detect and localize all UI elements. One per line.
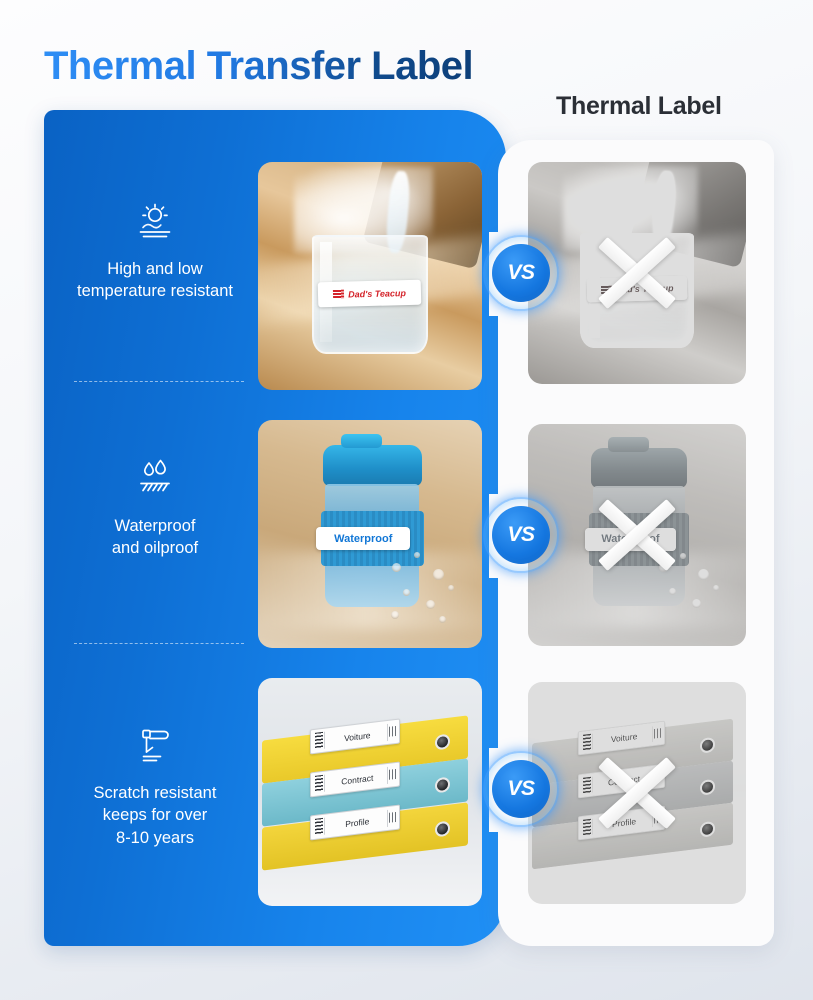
photo-good-temperature: Dad's Teacup xyxy=(258,162,482,390)
cross-out-icon xyxy=(589,487,685,583)
label-stripes-icon xyxy=(386,766,398,784)
feature-label-waterproof: Waterproof and oilproof xyxy=(60,515,250,560)
binder-ring-hole xyxy=(700,779,715,796)
cross-out-icon xyxy=(589,225,685,321)
binder-ring-hole xyxy=(700,821,715,838)
water-droplets-icon xyxy=(60,455,250,501)
feature-text-line2: temperature resistant xyxy=(77,282,233,300)
product-label-text: Dad's Teacup xyxy=(348,287,406,299)
feature-text-line1: High and low xyxy=(107,260,202,278)
vs-badge-1: VS xyxy=(492,244,550,302)
label-barcode-icon xyxy=(314,775,325,792)
scene-blue-tumbler: Waterproof xyxy=(258,420,482,648)
page-title: Thermal Transfer Label xyxy=(44,44,473,89)
scene-hot-water-glass: Dad's Teacup xyxy=(258,162,482,390)
binder-ring-hole xyxy=(435,778,450,795)
feature-item-temperature: High and low temperature resistant xyxy=(60,198,250,303)
cross-out-icon xyxy=(589,745,685,841)
tumbler-lid xyxy=(323,445,422,486)
feature-text-line3: 8-10 years xyxy=(116,829,194,847)
binder-ring-hole xyxy=(435,734,450,751)
feature-text-line1: Waterproof xyxy=(114,517,195,535)
brand-mark-icon xyxy=(333,289,344,298)
binder-label-text: Voiture xyxy=(328,727,387,744)
photo-bad-temperature: Dad's Teacup xyxy=(528,162,746,384)
product-label-waterproof: Waterproof xyxy=(316,527,410,550)
water-droplets xyxy=(383,543,473,634)
scene-stacked-binders: Voiture Contract Profile xyxy=(258,678,482,906)
photo-bad-waterproof: Waterproof xyxy=(528,424,746,646)
photo-good-waterproof: Waterproof xyxy=(258,420,482,648)
label-stripes-icon xyxy=(386,809,398,827)
product-label-teacup: Dad's Teacup xyxy=(318,279,422,307)
feature-text-line1: Scratch resistant xyxy=(94,784,217,802)
feature-divider xyxy=(74,643,244,644)
label-stripes-icon xyxy=(386,723,398,741)
tumbler-lid xyxy=(591,448,687,488)
label-stripes-icon xyxy=(652,726,664,743)
binder-label-text: Profile xyxy=(328,814,387,831)
scratch-scraper-icon xyxy=(60,722,250,768)
feature-item-scratch: Scratch resistant keeps for over 8-10 ye… xyxy=(60,722,250,849)
photo-bad-scratch: Voiture Contract Profile xyxy=(528,682,746,904)
vs-badge-2: VS xyxy=(492,506,550,564)
sun-temperature-icon xyxy=(60,198,250,244)
feature-text-line2: keeps for over xyxy=(103,806,208,824)
product-label-text: Waterproof xyxy=(334,533,392,545)
vs-badge-3: VS xyxy=(492,760,550,818)
feature-label-scratch: Scratch resistant keeps for over 8-10 ye… xyxy=(60,782,250,849)
comparison-column-title: Thermal Label xyxy=(556,92,722,121)
binder-ring-hole xyxy=(700,737,715,754)
label-barcode-icon xyxy=(314,732,325,749)
photo-good-scratch: Voiture Contract Profile xyxy=(258,678,482,906)
feature-item-waterproof: Waterproof and oilproof xyxy=(60,455,250,560)
feature-label-temperature: High and low temperature resistant xyxy=(60,258,250,303)
binder-label-text: Contract xyxy=(328,771,387,788)
binder-ring-hole xyxy=(435,821,450,838)
label-barcode-icon xyxy=(314,818,325,835)
feature-divider xyxy=(74,381,244,382)
feature-text-line2: and oilproof xyxy=(112,539,198,557)
